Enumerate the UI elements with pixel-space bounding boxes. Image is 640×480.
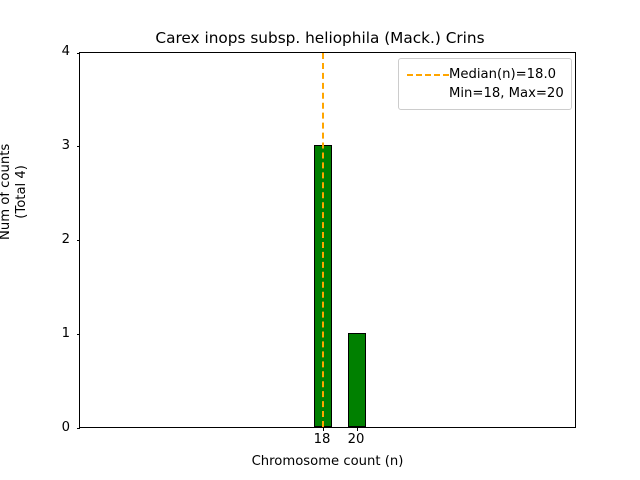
x-axis-label: Chromosome count (n) bbox=[79, 454, 576, 469]
legend-entry-median: Median(n)=18.0 bbox=[407, 65, 563, 84]
bar-20[interactable] bbox=[348, 333, 366, 427]
legend-entry-minmax: Min=18, Max=20 bbox=[407, 84, 563, 103]
legend-label-median: Median(n)=18.0 bbox=[449, 65, 556, 84]
chart-figure: Carex inops subsp. heliophila (Mack.) Cr… bbox=[0, 0, 640, 480]
chart-title: Carex inops subsp. heliophila (Mack.) Cr… bbox=[0, 29, 640, 47]
y-tick-label-0: 0 bbox=[50, 421, 70, 434]
y-tick-label-1: 1 bbox=[50, 327, 70, 340]
y-tick-label-4: 4 bbox=[50, 45, 70, 58]
y-tick-mark-0 bbox=[77, 428, 81, 429]
y-axis-label-line-2: (Total 4) bbox=[14, 144, 30, 240]
y-axis-label: Num of counts (Total 4) bbox=[0, 144, 29, 240]
legend-label-minmax: Min=18, Max=20 bbox=[449, 84, 564, 103]
x-tick-mark-18 bbox=[323, 427, 324, 431]
legend-swatch-median bbox=[407, 74, 449, 76]
median-line bbox=[322, 53, 324, 427]
legend[interactable]: Median(n)=18.0 Min=18, Max=20 bbox=[398, 58, 572, 110]
y-tick-label-2: 2 bbox=[50, 233, 70, 246]
x-tick-label-20: 20 bbox=[336, 433, 376, 447]
y-axis-label-line-1: Num of counts bbox=[0, 144, 14, 240]
x-tick-mark-20 bbox=[357, 427, 358, 431]
y-tick-label-3: 3 bbox=[50, 139, 70, 152]
